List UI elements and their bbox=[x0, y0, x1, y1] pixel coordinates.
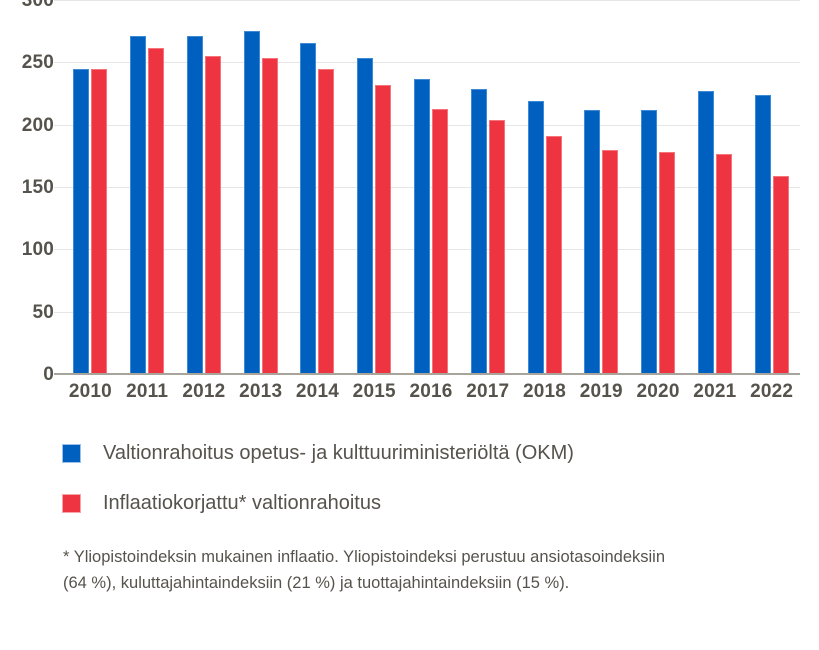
legend-swatch-icon bbox=[62, 494, 81, 513]
legend-item-label: Inflaatiokorjattu* valtionrahoitus bbox=[103, 492, 381, 515]
chart-page: 050100150200250300 201020112012201320142… bbox=[0, 0, 819, 650]
bar bbox=[130, 36, 146, 373]
x-axis-tick-label: 2020 bbox=[637, 381, 680, 403]
bar bbox=[584, 110, 600, 373]
x-axis-tick-label: 2013 bbox=[239, 381, 282, 403]
y-axis-tick-label: 100 bbox=[22, 239, 54, 261]
chart-legend: Valtionrahoitus opetus- ja kulttuurimini… bbox=[62, 434, 792, 534]
y-axis-tick-label: 0 bbox=[43, 364, 54, 386]
bar-group bbox=[289, 0, 346, 373]
bar bbox=[244, 31, 260, 373]
bar bbox=[318, 69, 334, 373]
bar bbox=[414, 79, 430, 373]
bars-layer bbox=[62, 0, 800, 373]
y-axis-tick-label: 250 bbox=[22, 52, 54, 74]
legend-item[interactable]: Inflaatiokorjattu* valtionrahoitus bbox=[62, 484, 792, 522]
bar-group bbox=[176, 0, 233, 373]
x-axis-tick-label: 2017 bbox=[466, 381, 509, 403]
bar bbox=[716, 154, 732, 373]
y-axis-tick-label: 50 bbox=[32, 302, 54, 324]
bar bbox=[91, 69, 107, 373]
bar bbox=[698, 91, 714, 373]
bar bbox=[262, 58, 278, 373]
x-axis-tick-label: 2018 bbox=[523, 381, 566, 403]
bar-group bbox=[232, 0, 289, 373]
bar bbox=[659, 152, 675, 373]
x-axis-baseline bbox=[54, 373, 800, 375]
y-axis-tick-label: 200 bbox=[22, 115, 54, 137]
plot-area bbox=[62, 0, 800, 375]
x-axis-tick-label: 2016 bbox=[409, 381, 452, 403]
bar bbox=[300, 43, 316, 373]
chart-footnote: * Yliopistoindeksin mukainen inflaatio. … bbox=[63, 544, 683, 596]
bar-group bbox=[686, 0, 743, 373]
bar-group bbox=[119, 0, 176, 373]
legend-swatch-icon bbox=[62, 444, 81, 463]
bar-group bbox=[403, 0, 460, 373]
bar-chart: 050100150200250300 201020112012201320142… bbox=[0, 0, 819, 420]
bar bbox=[357, 58, 373, 373]
x-axis-tick-label: 2019 bbox=[580, 381, 623, 403]
bar bbox=[375, 85, 391, 373]
bar bbox=[546, 136, 562, 373]
bar-group bbox=[62, 0, 119, 373]
bar bbox=[471, 89, 487, 373]
bar bbox=[755, 95, 771, 373]
bar-group bbox=[516, 0, 573, 373]
x-axis-tick-label: 2015 bbox=[353, 381, 396, 403]
bar-group bbox=[630, 0, 687, 373]
bar-group bbox=[459, 0, 516, 373]
bar bbox=[528, 101, 544, 373]
y-axis-tick-label: 300 bbox=[22, 0, 54, 12]
y-axis-tick-label: 150 bbox=[22, 177, 54, 199]
x-axis-tick-label: 2010 bbox=[69, 381, 112, 403]
x-axis-tick-label: 2022 bbox=[750, 381, 793, 403]
bar bbox=[641, 110, 657, 373]
bar bbox=[187, 36, 203, 373]
x-axis-tick-label: 2012 bbox=[182, 381, 225, 403]
bar-group bbox=[743, 0, 800, 373]
y-axis-labels: 050100150200250300 bbox=[0, 0, 54, 375]
bar bbox=[489, 120, 505, 373]
x-axis-tick-label: 2011 bbox=[126, 381, 168, 403]
bar bbox=[148, 48, 164, 373]
bar bbox=[432, 109, 448, 373]
x-axis-tick-label: 2021 bbox=[693, 381, 736, 403]
legend-item-label: Valtionrahoitus opetus- ja kulttuurimini… bbox=[103, 442, 574, 465]
x-axis-labels: 2010201120122013201420152016201720182019… bbox=[62, 381, 800, 409]
bar-group bbox=[346, 0, 403, 373]
x-axis-tick-label: 2014 bbox=[296, 381, 339, 403]
legend-item[interactable]: Valtionrahoitus opetus- ja kulttuurimini… bbox=[62, 434, 792, 472]
bar bbox=[773, 176, 789, 373]
bar-group bbox=[573, 0, 630, 373]
bar bbox=[73, 69, 89, 373]
bar bbox=[602, 150, 618, 373]
bar bbox=[205, 56, 221, 373]
